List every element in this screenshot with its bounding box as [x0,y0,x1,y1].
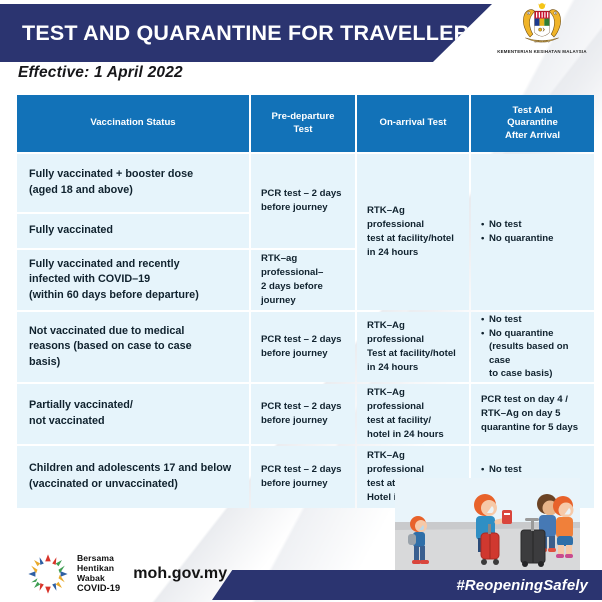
column-header-vaccination-status: Vaccination Status [17,95,249,152]
table-cell-onarrival-2: RTK–Ag professional Test at facility/hot… [357,312,469,382]
ministry-crest-block: BERSEKUTU KEMENTERIAN KESIHATAN MALAYSIA [490,2,594,64]
column-header-test-and-quarantine: Test And Quarantine After Arrival [471,95,594,152]
column-vaccination-status: Fully vaccinated + booster dose (aged 18… [17,154,249,508]
table-cell-onarrival-3: RTK–Ag professional test at facility/ ho… [357,384,469,444]
brand-text-lines: Bersama Hentikan Wabak COVID-19 [77,554,120,593]
brand-line-3: Wabak [77,574,120,584]
header-banner: TEST AND QUARANTINE FOR TRAVELLERS [0,4,492,62]
malaysia-coat-of-arms-icon: BERSEKUTU [514,2,570,48]
table-cell-status-2: Fully vaccinated [17,214,249,248]
effective-date: Effective: 1 April 2022 [18,64,183,82]
table-cell-status-5: Partially vaccinated/ not vaccinated [17,384,249,444]
quarantine-table: Vaccination Status Pre-departure Test On… [17,95,590,508]
table-cell-predeparture-4: PCR test – 2 days before journey [251,384,355,444]
footer: #ReopeningSafely Bersama Hentikan [0,556,602,602]
column-test-and-quarantine: No test No quarantine No test No quarant… [471,154,594,508]
table-header-row: Vaccination Status Pre-departure Test On… [17,95,590,152]
table-cell-onarrival-1: RTK–Ag professional test at facility/hot… [357,154,469,310]
table-cell-quarantine-1: No test No quarantine [471,154,594,310]
footer-band: #ReopeningSafely [212,570,602,600]
column-header-on-arrival-test: On-arrival Test [357,95,469,152]
column-header-pre-departure-test: Pre-departure Test [251,95,355,152]
table-cell-status-6: Children and adolescents 17 and below (v… [17,446,249,508]
bullet-list: No test No quarantine [481,218,584,245]
table-cell-predeparture-2: RTK–ag professional– 2 days before journ… [251,250,355,310]
table-cell-quarantine-2: No test No quarantine (results based on … [471,312,594,382]
column-pre-departure-test: PCR test – 2 days before journey RTK–ag … [251,154,355,508]
table-cell-predeparture-5: PCR test – 2 days before journey [251,446,355,508]
table-body: Fully vaccinated + booster dose (aged 18… [17,154,590,508]
column-on-arrival-test: RTK–Ag professional test at facility/hot… [357,154,469,508]
table-cell-status-4: Not vaccinated due to medical reasons (b… [17,312,249,382]
infographic-page: TEST AND QUARANTINE FOR TRAVELLERS [0,0,602,602]
list-item: No test [481,463,584,477]
table-cell-predeparture-1: PCR test – 2 days before journey [251,154,355,248]
table-cell-status-3: Fully vaccinated and recently infected w… [17,250,249,310]
campaign-hashtag: #ReopeningSafely [456,577,602,594]
ministry-crest-caption: KEMENTERIAN KESIHATAN MALAYSIA [497,49,587,54]
bullet-list: No test No quarantine (results based on … [481,313,584,381]
footer-brand: Bersama Hentikan Wabak COVID-19 moh.gov.… [26,553,227,595]
table-cell-status-1: Fully vaccinated + booster dose (aged 18… [17,154,249,212]
list-item: No test [481,313,584,327]
list-item: No quarantine [481,232,584,246]
table-cell-quarantine-3: PCR test on day 4 / RTK–Ag on day 5 quar… [471,384,594,444]
svg-text:BERSEKUTU: BERSEKUTU [534,39,549,43]
list-item: No test [481,218,584,232]
list-item: No quarantine (results based on case to … [481,327,584,381]
page-title: TEST AND QUARANTINE FOR TRAVELLERS [0,21,484,46]
website-url[interactable]: moh.gov.my [133,565,227,583]
table-cell-predeparture-3: PCR test – 2 days before journey [251,312,355,382]
bersama-hentikan-wabak-covid19-logo [26,553,70,595]
brand-line-4: COVID-19 [77,583,120,593]
